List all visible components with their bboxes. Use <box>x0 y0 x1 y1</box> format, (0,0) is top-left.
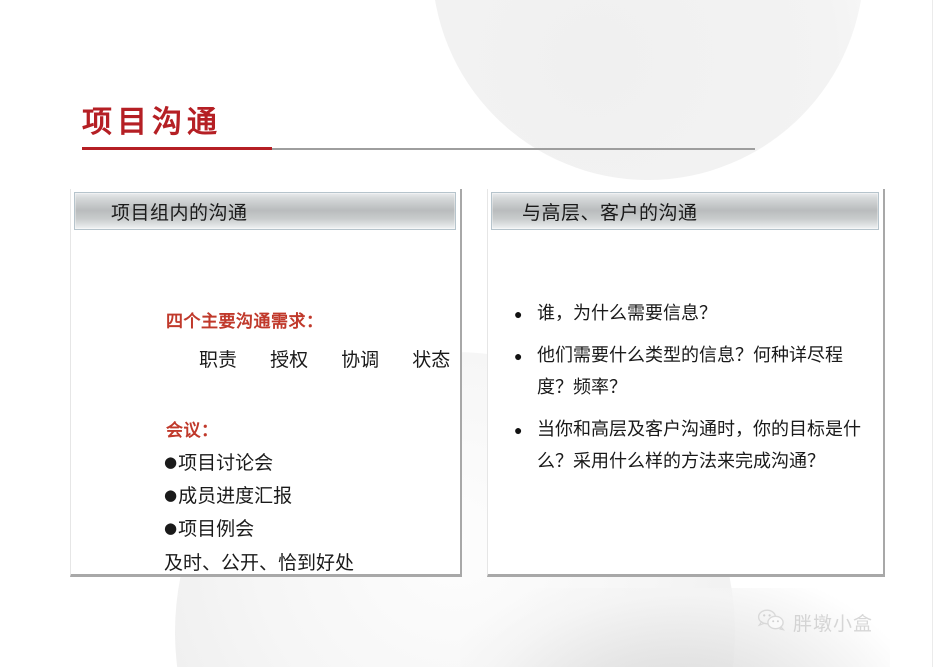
meeting-footer-note: 及时、公开、恰到好处 <box>164 548 354 575</box>
list-item-label: 他们需要什么类型的信息？何种详尽程度？频率？ <box>537 340 864 404</box>
background-shadow-wedge <box>460 588 890 667</box>
panel-right-header-label: 与高层、客户的沟通 <box>492 198 698 225</box>
list-item: ●项目讨论会 <box>164 446 292 479</box>
slide-right-edge <box>932 0 933 667</box>
panel-left-header: 项目组内的沟通 <box>74 192 456 230</box>
watermark-label: 胖墩小盒 <box>793 609 873 636</box>
need-words-row: 职责 授权 协调 状态 <box>199 345 450 372</box>
list-item: ● 当你和高层及客户沟通时，你的目标是什么？采用什么样的方法来完成沟通？ <box>514 414 864 478</box>
need-word-coordinate: 协调 <box>341 349 379 371</box>
list-item-label: 成员进度汇报 <box>178 485 292 507</box>
watermark: 胖墩小盒 <box>756 608 873 637</box>
list-item-label: 项目讨论会 <box>178 452 273 474</box>
list-item-label: 当你和高层及客户沟通时，你的目标是什么？采用什么样的方法来完成沟通？ <box>537 414 864 478</box>
meeting-list: ●项目讨论会 ●成员进度汇报 ●项目例会 <box>164 446 292 545</box>
question-list: ● 谁，为什么需要信息？ ● 他们需要什么类型的信息？何种详尽程度？频率？ ● … <box>514 298 864 488</box>
title-underline-red <box>82 147 272 150</box>
meeting-heading: 会议： <box>166 416 219 441</box>
bullet-icon: ● <box>514 298 537 330</box>
list-item: ● 谁，为什么需要信息？ <box>514 298 864 330</box>
wechat-icon <box>756 608 786 637</box>
need-word-duty: 职责 <box>199 349 237 371</box>
list-item: ● 他们需要什么类型的信息？何种详尽程度？频率？ <box>514 340 864 404</box>
panel-executive-client-communication: 与高层、客户的沟通 ● 谁，为什么需要信息？ ● 他们需要什么类型的信息？何种详… <box>487 189 885 577</box>
bullet-icon: ● <box>164 519 177 537</box>
list-item: ●项目例会 <box>164 512 292 545</box>
list-item: ●成员进度汇报 <box>164 479 292 512</box>
panel-internal-communication: 项目组内的沟通 四个主要沟通需求： 职责 授权 协调 状态 会议： ●项目讨论会… <box>70 189 462 577</box>
list-item-label: 谁，为什么需要信息？ <box>537 298 864 330</box>
title-underline-gray <box>272 148 755 150</box>
background-circle-top <box>432 0 864 180</box>
need-heading: 四个主要沟通需求： <box>166 307 324 332</box>
need-word-status: 状态 <box>412 349 450 371</box>
list-item-label: 项目例会 <box>178 518 254 540</box>
bullet-icon: ● <box>514 340 537 372</box>
panel-right-header: 与高层、客户的沟通 <box>491 192 879 230</box>
bullet-icon: ● <box>164 486 177 504</box>
bullet-icon: ● <box>514 414 537 446</box>
title-block: 项目沟通 <box>82 104 782 151</box>
slide-canvas: 项目沟通 项目组内的沟通 四个主要沟通需求： 职责 授权 协调 状态 会议： ●… <box>0 0 946 667</box>
panel-left-header-label: 项目组内的沟通 <box>75 198 248 225</box>
need-word-authority: 授权 <box>270 349 308 371</box>
page-title: 项目沟通 <box>82 104 782 142</box>
bullet-icon: ● <box>164 453 177 471</box>
title-underline <box>82 147 782 151</box>
